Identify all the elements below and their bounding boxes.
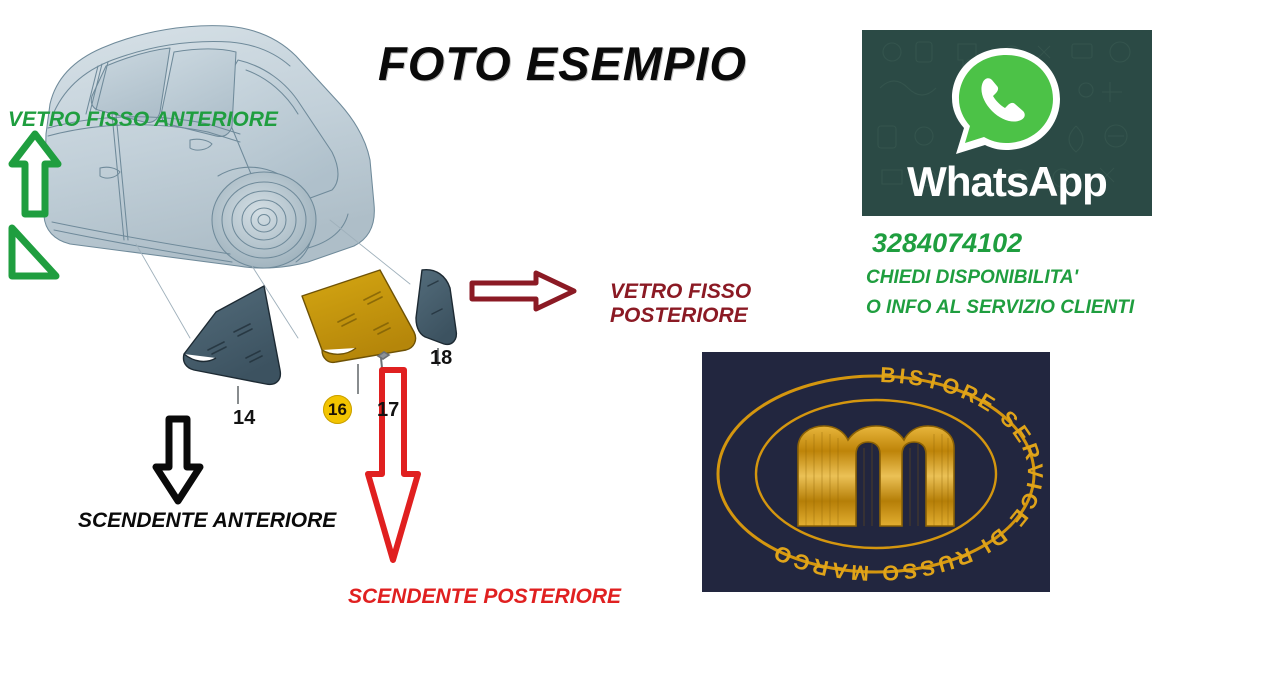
- whatsapp-phone-bubble-icon: [942, 42, 1070, 162]
- label-vetro-fisso-posteriore: VETRO FISSO POSTERIORE: [610, 280, 751, 327]
- screenshot-canvas: FOTO ESEMPIO VETRO FISSO ANTERIORE VETRO…: [0, 0, 1264, 678]
- label-line-1: VETRO FISSO: [610, 280, 751, 304]
- part-callout-14: 14: [233, 407, 255, 430]
- contact-line-1: CHIEDI DISPONIBILITA': [866, 267, 1078, 289]
- arrow-down-black-icon: [150, 415, 206, 505]
- part-callout-16: 16: [323, 395, 352, 424]
- part-callout-17: 17: [377, 399, 399, 422]
- phone-number[interactable]: 3284074102: [872, 228, 1022, 259]
- part-callout-18: 18: [430, 347, 452, 370]
- shop-logo-emblem: MRICAMBISTORE SERVICE DI RUSSO MARCO: [702, 352, 1050, 592]
- arrow-right-darkred-icon: [468, 268, 578, 314]
- label-line-2: POSTERIORE: [610, 304, 751, 328]
- shop-logo-panel: MRICAMBISTORE SERVICE DI RUSSO MARCO: [702, 352, 1050, 592]
- arrow-down-red-icon: [362, 366, 424, 566]
- whatsapp-banner: WhatsApp: [862, 30, 1152, 216]
- page-title: FOTO ESEMPIO: [378, 36, 747, 91]
- whatsapp-wordmark: WhatsApp: [862, 158, 1152, 206]
- label-vetro-fisso-anteriore: VETRO FISSO ANTERIORE: [8, 108, 278, 132]
- contact-line-2: O INFO AL SERVIZIO CLIENTI: [866, 297, 1134, 319]
- label-scendente-anteriore: SCENDENTE ANTERIORE: [78, 509, 336, 533]
- label-scendente-posteriore: SCENDENTE POSTERIORE: [348, 585, 621, 609]
